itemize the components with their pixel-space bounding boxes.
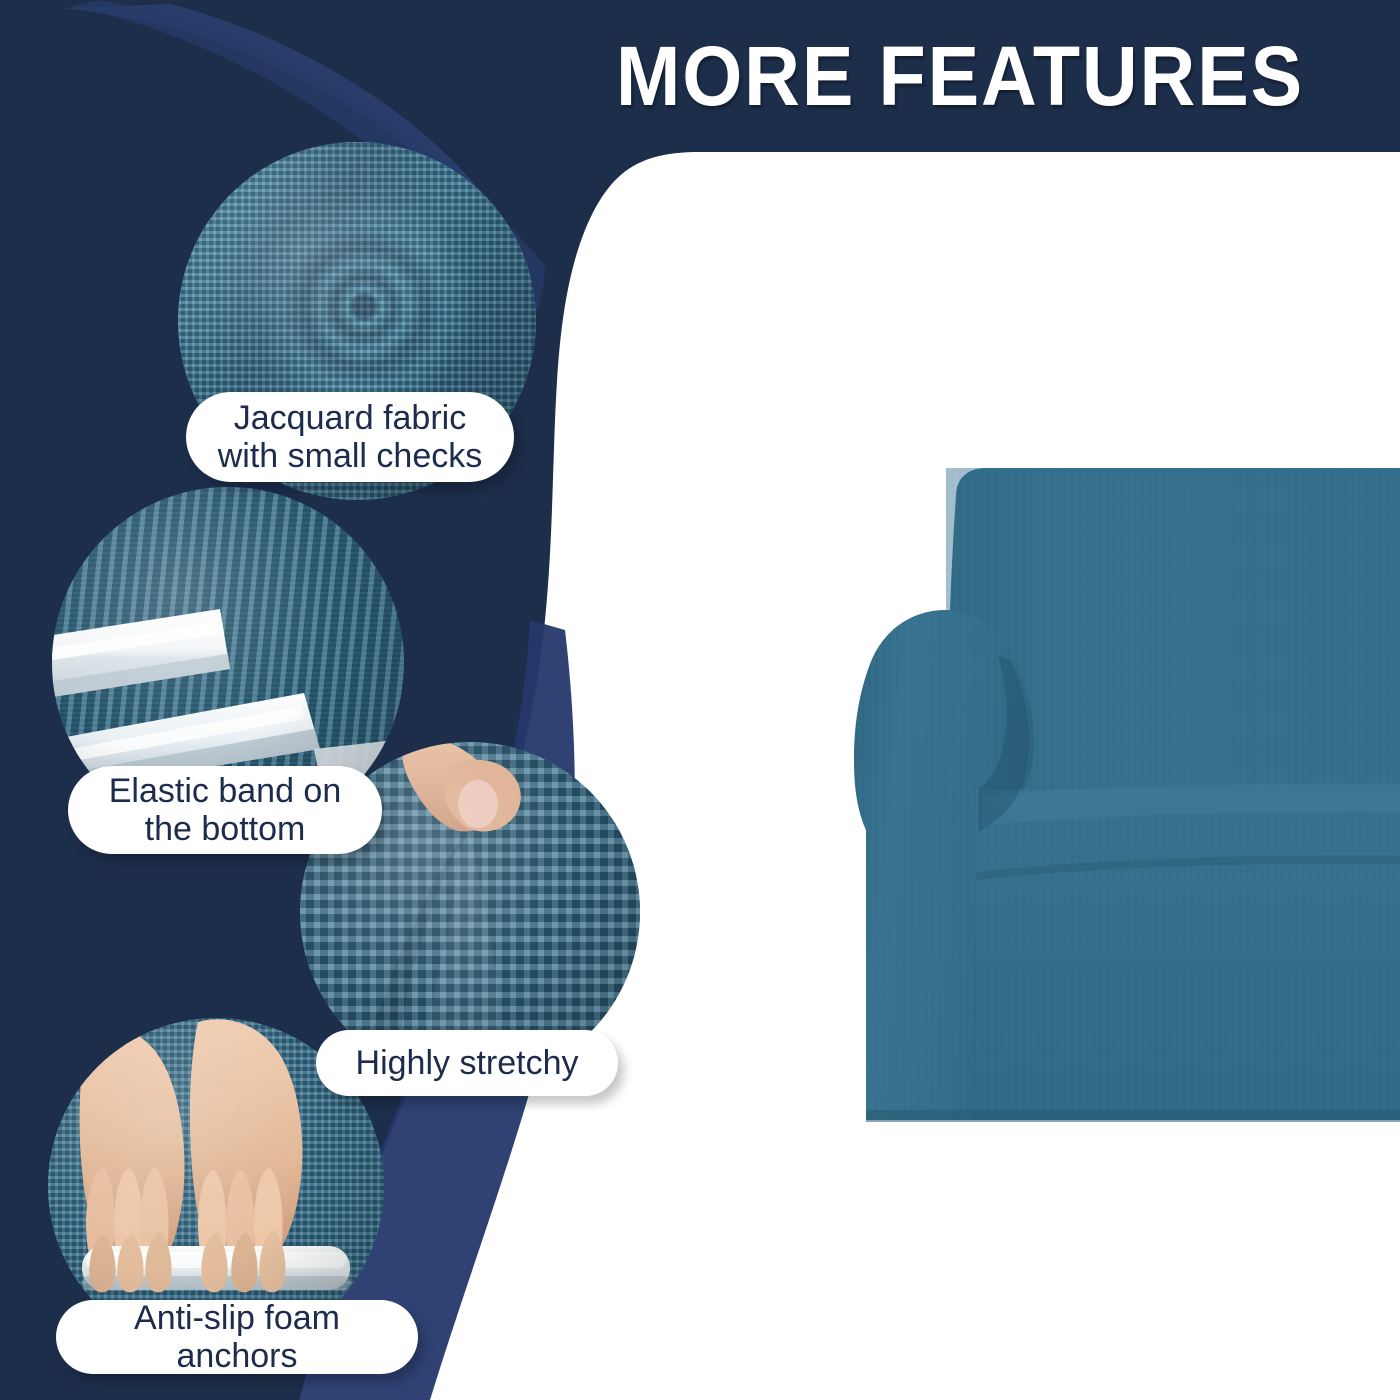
feature-label-highly-stretchy: Highly stretchy (316, 1030, 618, 1096)
page-title: MORE FEATURES (592, 28, 1328, 124)
feature-label-elastic-band: Elastic band on the bottom (68, 766, 382, 854)
feature-label-jacquard: Jacquard fabric with small checks (186, 392, 514, 482)
infographic-canvas: MORE FEATURES (0, 0, 1400, 1400)
product-image-sofa-slipcover (770, 460, 1400, 1140)
feature-label-anti-slip-foam-anchors: Anti-slip foam anchors (56, 1300, 418, 1374)
sofa-hem (866, 1110, 1400, 1122)
